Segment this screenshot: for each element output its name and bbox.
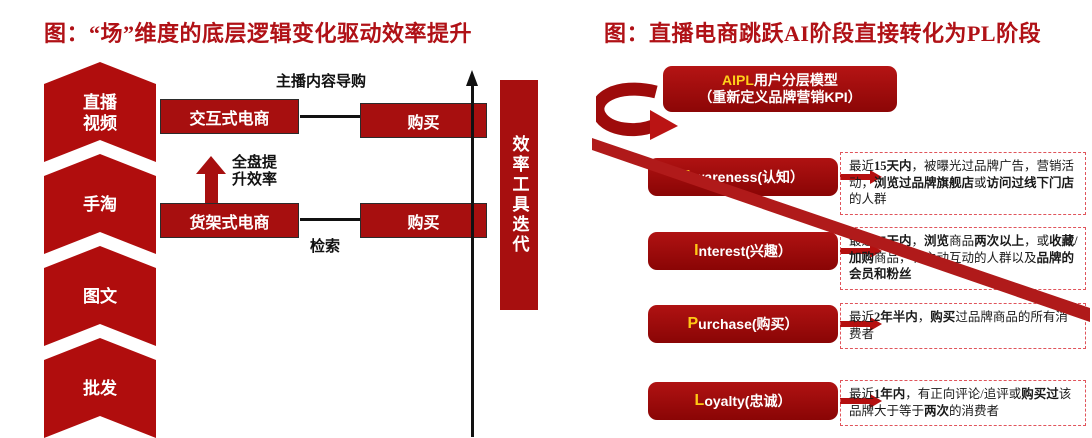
chevron-label-line1: 手淘 bbox=[83, 193, 117, 214]
chevron-item-1[interactable]: 手淘 bbox=[44, 154, 156, 254]
chevron-label-line1: 直播 bbox=[83, 91, 117, 112]
desc-text: 最近15天内，被曝光过品牌广告，营销活动，浏览过品牌旗舰店或访问过线下门店的人群 bbox=[849, 159, 1074, 206]
aipl-acronym: AIPL bbox=[722, 72, 754, 88]
flow-source-bottom[interactable]: 货架式电商 bbox=[160, 203, 299, 238]
aipl-header-line1: AIPL用户分层模型 bbox=[722, 72, 838, 90]
chevron-item-0[interactable]: 直播 视频 bbox=[44, 62, 156, 162]
flow-middle-label-line2: 升效率 bbox=[232, 172, 277, 189]
stage-initial: L bbox=[695, 392, 705, 410]
vertical-axis-arrow-icon bbox=[465, 70, 481, 437]
flow-top-label: 主播内容导购 bbox=[276, 74, 366, 91]
stage-label: urchase(购买） bbox=[698, 314, 798, 334]
channel-chevron-stack: 直播 视频 手淘 图文 批发 bbox=[44, 62, 156, 437]
stage-initial: A bbox=[682, 168, 694, 186]
flow-source-top[interactable]: 交互式电商 bbox=[160, 99, 299, 134]
stage-row-loyalty[interactable]: Loyalty(忠诚） bbox=[648, 382, 838, 420]
stage-label: wareness(认知） bbox=[694, 167, 804, 187]
desc-box-loyalty: 最近1年内，有正向评论/追评或购买过该品牌大于等于两次的消费者 bbox=[840, 380, 1086, 426]
desc-box-interest: 最近15天内，浏览商品两次以上，或收藏/加购商品，有主动互动的人群以及品牌的会员… bbox=[840, 227, 1086, 290]
chevron-label-line1: 批发 bbox=[83, 377, 117, 398]
chevron-item-3[interactable]: 批发 bbox=[44, 338, 156, 438]
flow-middle-label-line1: 全盘提 bbox=[232, 155, 277, 172]
stage-row-purchase[interactable]: Purchase(购买） bbox=[648, 305, 838, 343]
aipl-model-header: AIPL用户分层模型 （重新定义品牌营销KPI） bbox=[663, 66, 897, 112]
aipl-header-line1-suffix: 用户分层模型 bbox=[754, 72, 838, 88]
right-figure-title: 图：直播电商跳跃AI阶段直接转化为PL阶段 bbox=[604, 16, 1041, 48]
desc-text: 最近15天内，浏览商品两次以上，或收藏/加购商品，有主动互动的人群以及品牌的会员… bbox=[849, 234, 1078, 281]
stage-label: nterest(兴趣） bbox=[699, 241, 792, 261]
aipl-header-line2: （重新定义品牌营销KPI） bbox=[698, 89, 861, 107]
desc-box-awareness: 最近15天内，被曝光过品牌广告，营销活动，浏览过品牌旗舰店或访问过线下门店的人群 bbox=[840, 152, 1086, 215]
desc-text: 最近2年半内，购买过品牌商品的所有消费者 bbox=[849, 310, 1068, 341]
stage-label: oyalty(忠诚） bbox=[704, 391, 791, 411]
stage-initial: P bbox=[687, 315, 698, 333]
stage-row-interest[interactable]: Interest(兴趣） bbox=[648, 232, 838, 270]
chevron-item-2[interactable]: 图文 bbox=[44, 246, 156, 346]
left-figure-title: 图：“场”维度的底层逻辑变化驱动效率提升 bbox=[44, 16, 472, 48]
desc-box-purchase: 最近2年半内，购买过品牌商品的所有消费者 bbox=[840, 303, 1086, 349]
efficiency-up-arrow-icon bbox=[196, 156, 226, 204]
chevron-label-line2: 视频 bbox=[83, 112, 117, 133]
flow-bottom-label: 检索 bbox=[310, 239, 340, 256]
desc-text: 最近1年内，有正向评论/追评或购买过该品牌大于等于两次的消费者 bbox=[849, 387, 1071, 418]
stage-row-awareness[interactable]: Awareness(认知） bbox=[648, 158, 838, 196]
chevron-label-line1: 图文 bbox=[83, 285, 117, 306]
efficiency-tool-iteration-bar: 效率工具迭代 bbox=[500, 80, 538, 310]
slide-root: 图：“场”维度的底层逻辑变化驱动效率提升 直播 视频 手淘 图文 批发 主播内容… bbox=[0, 0, 1092, 437]
